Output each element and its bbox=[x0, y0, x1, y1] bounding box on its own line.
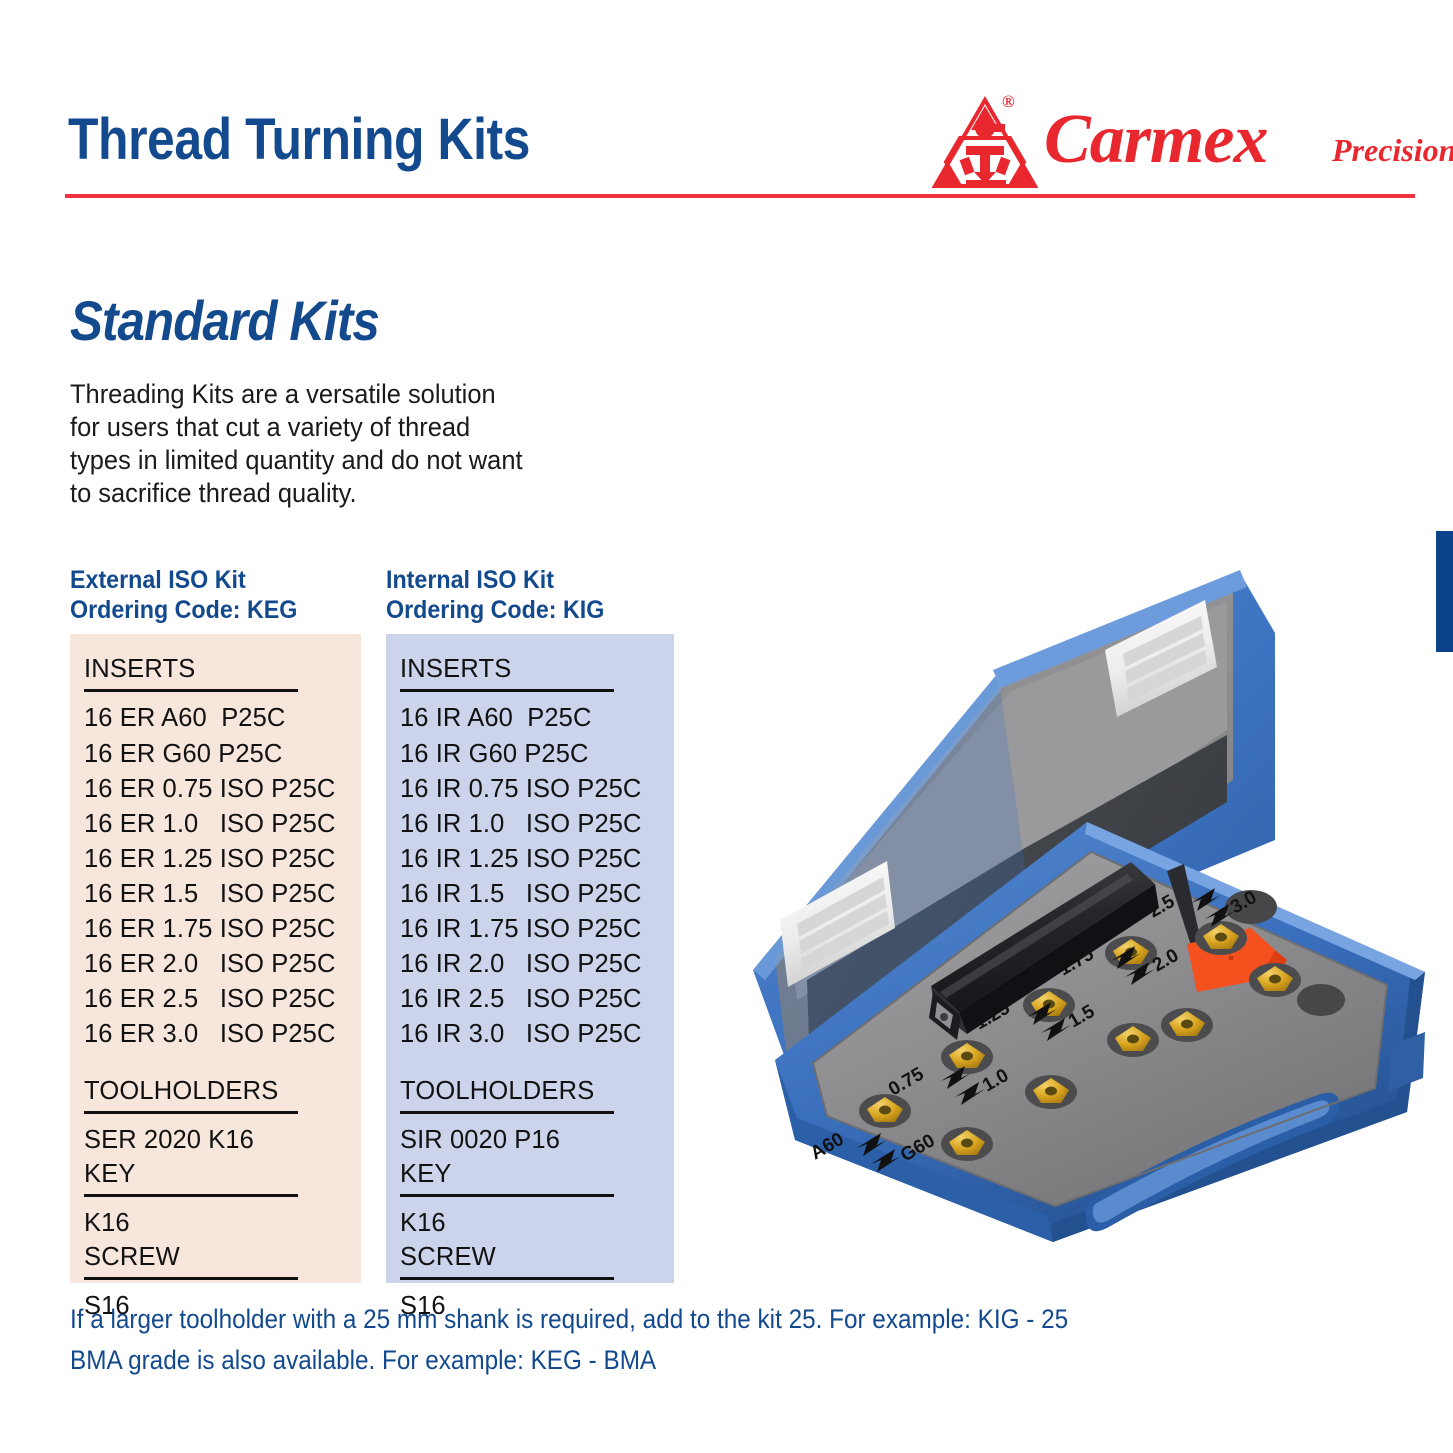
kit-section-label-screw: SCREW bbox=[84, 1242, 361, 1272]
kit-section-label-toolholders: TOOLHOLDERS bbox=[400, 1076, 674, 1106]
kit-section-label-inserts: INSERTS bbox=[400, 654, 674, 684]
registered-trademark-icon: ® bbox=[1002, 92, 1015, 112]
table-row: 16 ER 3.0 ISO P25C bbox=[84, 1017, 361, 1052]
section-divider bbox=[84, 1194, 298, 1197]
table-row: 16 IR 1.75 ISO P25C bbox=[400, 912, 674, 947]
table-row: 16 ER A60 P25C bbox=[84, 701, 361, 737]
kit-section-label-toolholders: TOOLHOLDERS bbox=[84, 1076, 361, 1106]
section-description: Threading Kits are a versatile solution … bbox=[70, 378, 608, 510]
logo-tagline: Precision Tools Ltd. bbox=[1332, 132, 1453, 169]
table-row: 16 ER 2.0 ISO P25C bbox=[84, 947, 361, 982]
table-row: 16 IR 2.5 ISO P25C bbox=[400, 982, 674, 1017]
table-row: 16 IR 1.0 ISO P25C bbox=[400, 807, 674, 842]
kit-table-internal: INSERTS 16 IR A60 P25C 16 IR G60 P25C 16… bbox=[386, 634, 674, 1283]
section-divider bbox=[84, 1277, 298, 1280]
kit-heading-internal: Internal ISO Kit Ordering Code: KIG bbox=[386, 565, 604, 625]
table-row: 16 IR 1.25 ISO P25C bbox=[400, 842, 674, 877]
kit-heading-external: External ISO Kit Ordering Code: KEG bbox=[70, 565, 297, 625]
carmex-logo: ® Carmex Precision Tools Ltd. bbox=[932, 92, 1432, 188]
footer-note: If a larger toolholder with a 25 mm shan… bbox=[70, 1299, 1150, 1381]
table-row: K16 bbox=[84, 1206, 361, 1242]
table-row: 16 ER 1.0 ISO P25C bbox=[84, 807, 361, 842]
section-divider bbox=[84, 689, 298, 692]
table-row: 16 ER 1.25 ISO P25C bbox=[84, 842, 361, 877]
table-row: K16 bbox=[400, 1206, 674, 1242]
product-photo: A60 G60 0.75 1.0 1.25 1.5 1.75 2.0 2.5 3… bbox=[735, 540, 1453, 1280]
table-row: 16 IR 0.75 ISO P25C bbox=[400, 772, 674, 807]
table-row: 16 IR 3.0 ISO P25C bbox=[400, 1017, 674, 1052]
section-divider bbox=[400, 1277, 614, 1280]
table-row: SIR 0020 P16 bbox=[400, 1123, 674, 1159]
kit-section-label-screw: SCREW bbox=[400, 1242, 674, 1272]
table-row: 16 IR 1.5 ISO P25C bbox=[400, 877, 674, 912]
logo-wordmark: Carmex bbox=[1044, 100, 1267, 180]
kit-table-external: INSERTS 16 ER A60 P25C 16 ER G60 P25C 16… bbox=[70, 634, 361, 1283]
section-title: Standard Kits bbox=[70, 288, 379, 353]
table-row: 16 ER 1.5 ISO P25C bbox=[84, 877, 361, 912]
table-row: 16 ER 2.5 ISO P25C bbox=[84, 982, 361, 1017]
header-divider bbox=[65, 194, 1415, 198]
catalog-page: Thread Turning Kits bbox=[0, 0, 1453, 1453]
page-title: Thread Turning Kits bbox=[68, 106, 530, 173]
kit-section-label-key: KEY bbox=[400, 1159, 674, 1189]
table-row: 16 IR G60 P25C bbox=[400, 737, 674, 773]
table-row: 16 ER 1.75 ISO P25C bbox=[84, 912, 361, 947]
kit-section-label-key: KEY bbox=[84, 1159, 361, 1189]
section-divider bbox=[400, 1111, 614, 1114]
table-row: 16 ER 0.75 ISO P25C bbox=[84, 772, 361, 807]
table-row: 16 IR 2.0 ISO P25C bbox=[400, 947, 674, 982]
section-divider bbox=[400, 689, 614, 692]
kit-section-label-inserts: INSERTS bbox=[84, 654, 361, 684]
table-row: 16 IR A60 P25C bbox=[400, 701, 674, 737]
table-row: 16 ER G60 P25C bbox=[84, 737, 361, 773]
section-divider bbox=[84, 1111, 298, 1114]
carmex-triangle-emblem-icon bbox=[932, 96, 1038, 188]
table-row: SER 2020 K16 bbox=[84, 1123, 361, 1159]
section-divider bbox=[400, 1194, 614, 1197]
